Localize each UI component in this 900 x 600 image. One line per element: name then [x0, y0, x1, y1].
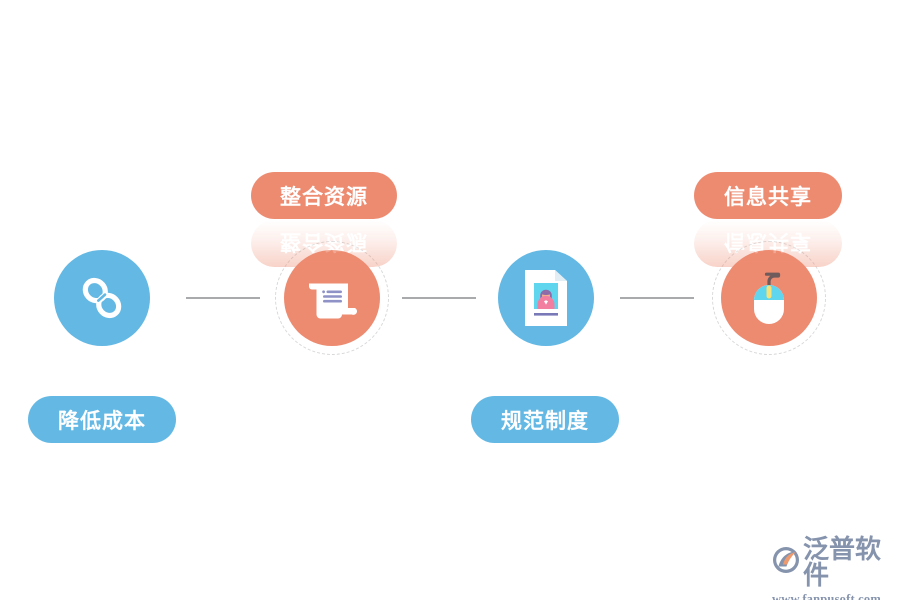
- pill-reflection-4: 信息共享: [694, 220, 842, 267]
- connector-line-1: [186, 297, 260, 299]
- id-card-document-icon: [522, 268, 570, 328]
- chain-link-icon: [77, 273, 127, 323]
- watermark-logo: 泛普软件 www.fanpusoft.com: [772, 536, 892, 592]
- connector-line-3: [620, 297, 694, 299]
- node-label-pill-4[interactable]: 信息共享: [694, 172, 842, 219]
- brand-url: www.fanpusoft.com: [772, 592, 892, 600]
- node-label-pill-3[interactable]: 规范制度: [471, 396, 619, 443]
- computer-mouse-icon: [745, 269, 793, 327]
- node-label-pill-1[interactable]: 降低成本: [28, 396, 176, 443]
- brand-name: 泛普软件: [803, 536, 892, 588]
- node-label-pill-2[interactable]: 整合资源: [251, 172, 397, 219]
- node-circle-3[interactable]: [498, 250, 594, 346]
- scroll-document-icon: [305, 271, 359, 325]
- diagram-canvas: 整合资源 信息共享 降低成本 整合资源 规范制度 信息共享 泛普软件 www.f…: [0, 0, 900, 600]
- connector-line-2: [402, 297, 476, 299]
- pill-reflection-2: 整合资源: [251, 220, 397, 267]
- swoosh-circle-logo-icon: [772, 546, 800, 579]
- node-circle-1[interactable]: [54, 250, 150, 346]
